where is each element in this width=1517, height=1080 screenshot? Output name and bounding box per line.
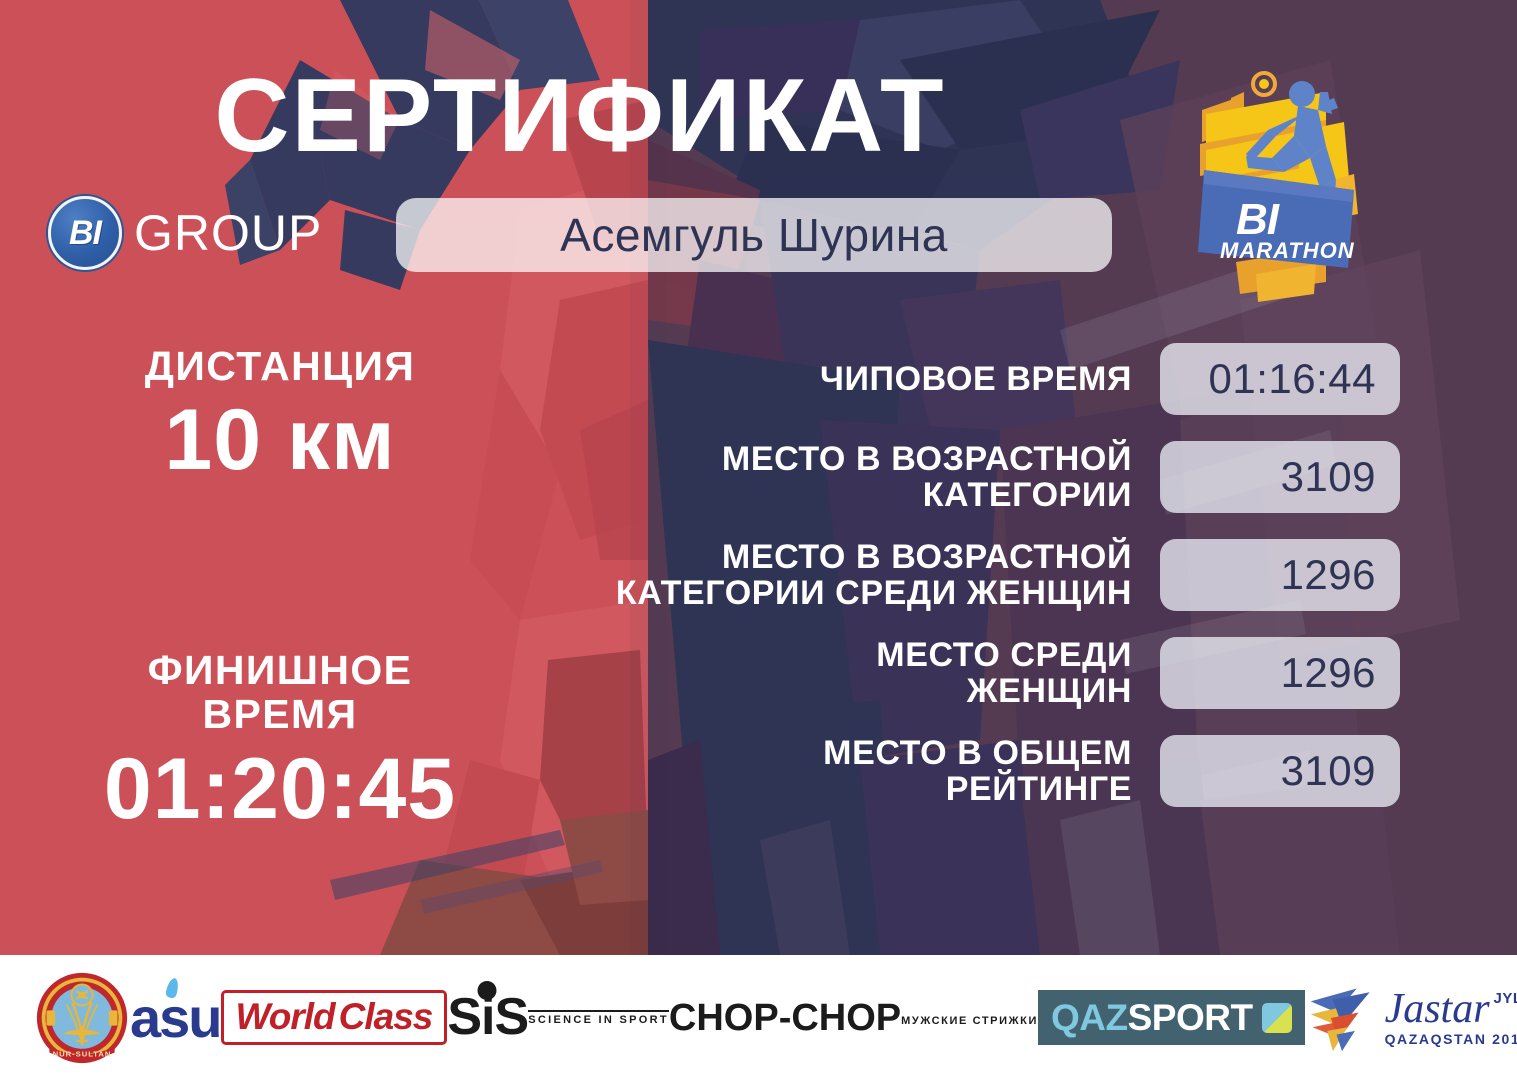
page-title: СЕРТИФИКАТ — [0, 62, 1160, 171]
stat-row: МЕСТО СРЕДИ ЖЕНЩИН 1296 — [520, 634, 1400, 712]
stat-value-age-category-place: 3109 — [1281, 456, 1376, 498]
stat-row: МЕСТО В ВОЗРАСТНОЙ КАТЕГОРИИ СРЕДИ ЖЕНЩИ… — [520, 536, 1400, 614]
stat-value-age-category-women-place: 1296 — [1281, 554, 1376, 596]
jastar-bird-icon — [1305, 983, 1379, 1053]
bi-marathon-logo: BI MARATHON — [1176, 62, 1386, 302]
stat-value-overall-place: 3109 — [1281, 750, 1376, 792]
stat-label-chip-time: ЧИПОВОЕ ВРЕМЯ — [520, 361, 1160, 397]
stat-value-women-place: 1296 — [1281, 652, 1376, 694]
stat-pill-age-category-women-place: 1296 — [1160, 539, 1400, 611]
stat-value-chip-time: 01:16:44 — [1209, 358, 1377, 400]
svg-text:MARATHON: MARATHON — [1220, 238, 1355, 263]
stat-label-age-category-place: МЕСТО В ВОЗРАСТНОЙ КАТЕГОРИИ — [520, 441, 1160, 513]
bi-group-logo: BI GROUP — [48, 196, 322, 270]
stat-label-women-place: МЕСТО СРЕДИ ЖЕНЩИН — [520, 637, 1160, 709]
sponsor-bar: NUR-SULTAN asu WorldClass SiS SCIENCE IN… — [0, 955, 1517, 1080]
jastar-text: Jastar JYLY QAZAQSTAN 2019 — [1385, 988, 1517, 1047]
chop-chop-logo: CHOP-CHOP МУЖСКИЕ СТРИЖКИ — [669, 999, 1038, 1037]
stat-label-overall-place: МЕСТО В ОБЩЕМ РЕЙТИНГЕ — [520, 735, 1160, 807]
stat-row: МЕСТО В ВОЗРАСТНОЙ КАТЕГОРИИ 3109 — [520, 438, 1400, 516]
stats-list: ЧИПОВОЕ ВРЕМЯ 01:16:44 МЕСТО В ВОЗРАСТНО… — [520, 340, 1400, 810]
finish-time-value: 01:20:45 — [30, 741, 530, 837]
world-class-word1: World — [236, 998, 335, 1035]
stat-pill-age-category-place: 3109 — [1160, 441, 1400, 513]
jastar-logo: Jastar JYLY QAZAQSTAN 2019 — [1305, 983, 1517, 1053]
distance-label: ДИСТАНЦИЯ — [30, 344, 530, 388]
stat-pill-chip-time: 01:16:44 — [1160, 343, 1400, 415]
jastar-subtitle: QAZAQSTAN 2019 — [1385, 1031, 1517, 1047]
distance-block: ДИСТАНЦИЯ 10 км — [30, 344, 530, 489]
stat-row: МЕСТО В ОБЩЕМ РЕЙТИНГЕ 3109 — [520, 732, 1400, 810]
qazsport-chip-icon — [1262, 1003, 1292, 1033]
participant-name-plate: Асемгуль Шурина — [396, 198, 1112, 272]
stat-row: ЧИПОВОЕ ВРЕМЯ 01:16:44 — [520, 340, 1400, 418]
world-class-word2: Class — [339, 998, 433, 1035]
qazsport-word2: SPORT — [1128, 999, 1253, 1036]
sis-tagline: SCIENCE IN SPORT — [528, 1010, 669, 1026]
sis-wordmark: SiS — [447, 994, 528, 1042]
participant-name: Асемгуль Шурина — [560, 212, 948, 258]
sis-runner-dot-icon — [477, 981, 496, 1000]
asu-logo: asu — [130, 990, 221, 1046]
bi-group-mark-icon: BI — [48, 196, 122, 270]
distance-value: 10 км — [30, 392, 530, 488]
certificate-root: СЕРТИФИКАТ BI GROUP Асемгуль Шурина — [0, 0, 1517, 1080]
bi-group-wordmark: GROUP — [134, 208, 322, 258]
qazsport-word1: QAZ — [1051, 999, 1128, 1036]
jastar-jyly: JYLY — [1493, 990, 1517, 1007]
chop-chop-wordmark: CHOP-CHOP — [669, 999, 901, 1037]
stat-pill-overall-place: 3109 — [1160, 735, 1400, 807]
sis-logo: SiS SCIENCE IN SPORT — [447, 994, 669, 1042]
stat-label-age-category-women-place: МЕСТО В ВОЗРАСТНОЙ КАТЕГОРИИ СРЕДИ ЖЕНЩИ… — [520, 539, 1160, 611]
finish-time-label: ФИНИШНОЕ ВРЕМЯ — [30, 648, 530, 737]
qazsport-logo: QAZ SPORT — [1038, 990, 1305, 1045]
nur-sultan-emblem-icon: NUR-SULTAN — [34, 970, 130, 1066]
finish-time-block: ФИНИШНОЕ ВРЕМЯ 01:20:45 — [30, 648, 530, 837]
svg-text:BI: BI — [1236, 195, 1280, 244]
world-class-logo: WorldClass — [221, 990, 448, 1045]
svg-text:NUR-SULTAN: NUR-SULTAN — [53, 1049, 112, 1058]
stat-pill-women-place: 1296 — [1160, 637, 1400, 709]
chop-chop-tagline: МУЖСКИЕ СТРИЖКИ — [901, 1015, 1038, 1027]
bi-group-mark-text: BI — [69, 216, 101, 250]
asu-wordmark: asu — [130, 990, 221, 1046]
